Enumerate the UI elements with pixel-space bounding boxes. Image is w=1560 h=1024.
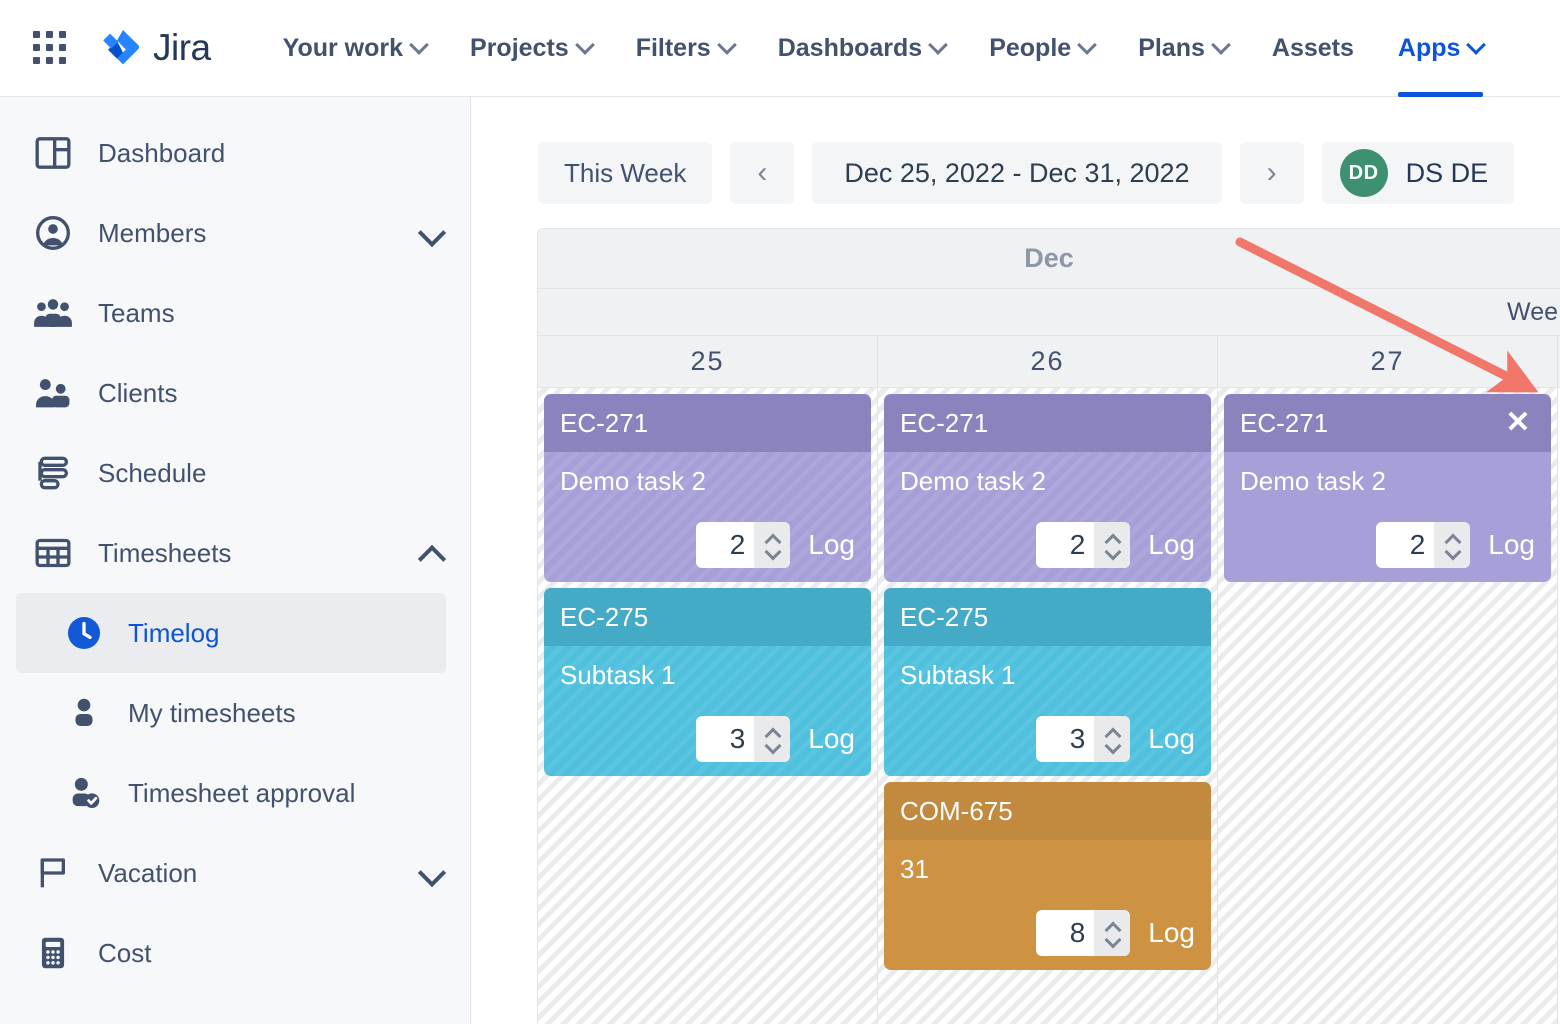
sidebar-item-label: Timelog: [128, 618, 220, 649]
hours-stepper[interactable]: 8: [1036, 910, 1130, 956]
chevron-down-icon[interactable]: [1105, 741, 1120, 750]
stepper-buttons[interactable]: [1094, 716, 1130, 762]
nav-item-people[interactable]: People: [967, 0, 1116, 97]
date-range-display[interactable]: Dec 25, 2022 - Dec 31, 2022: [812, 142, 1221, 204]
sidebar-item-vacation[interactable]: Vacation: [0, 833, 470, 913]
card-footer: 2 Log: [1036, 522, 1199, 568]
hours-stepper[interactable]: 3: [696, 716, 790, 762]
calculator-icon: [30, 930, 76, 976]
calendar-month-label: Dec: [538, 229, 1560, 289]
chevron-up-icon[interactable]: [1105, 535, 1120, 544]
nav-item-apps[interactable]: Apps: [1376, 0, 1506, 97]
people-group-icon: [30, 290, 76, 336]
card-footer: 3 Log: [696, 716, 859, 762]
hours-value[interactable]: 3: [696, 723, 754, 755]
calendar-column-27[interactable]: EC-271 ✕ Demo task 2 2 Log: [1218, 388, 1558, 1024]
stepper-buttons[interactable]: [1094, 522, 1130, 568]
chevron-down-icon[interactable]: [1445, 547, 1460, 556]
calendar-column-25[interactable]: EC-271 Demo task 2 2 Log: [538, 388, 878, 1024]
chevron-down-icon: [1080, 38, 1094, 52]
hours-stepper[interactable]: 2: [1036, 522, 1130, 568]
day-header-25: 25: [538, 336, 878, 387]
day-header-27: 27: [1218, 336, 1558, 387]
card-header: EC-275: [884, 588, 1211, 646]
sidebar-item-label: Vacation: [98, 858, 197, 889]
timelog-card[interactable]: EC-275 Subtask 1 3 Log: [884, 588, 1211, 776]
user-name: DS DE: [1406, 158, 1489, 189]
card-header: EC-271: [884, 394, 1211, 452]
card-header: EC-275: [544, 588, 871, 646]
dashboard-layout-icon: [30, 130, 76, 176]
sidebar-item-clients[interactable]: Clients: [0, 353, 470, 433]
chevron-down-icon[interactable]: [420, 221, 444, 245]
stepper-buttons[interactable]: [754, 716, 790, 762]
chevron-up-icon[interactable]: [1445, 535, 1460, 544]
chevron-down-icon[interactable]: [1105, 547, 1120, 556]
stepper-buttons[interactable]: [1094, 910, 1130, 956]
card-header: EC-271: [544, 394, 871, 452]
table-grid-icon: [30, 530, 76, 576]
hours-value[interactable]: 2: [1036, 529, 1094, 561]
chevron-up-icon[interactable]: [1105, 923, 1120, 932]
brand-name: Jira: [153, 27, 211, 69]
nav-item-your-work[interactable]: Your work: [261, 0, 448, 97]
issue-summary: Subtask 1: [884, 646, 1211, 691]
sidebar-item-label: Dashboard: [98, 138, 225, 169]
sidebar-item-dashboard[interactable]: Dashboard: [0, 113, 470, 193]
person-check-icon: [62, 771, 106, 815]
avatar: DD: [1340, 149, 1388, 197]
user-selector[interactable]: DD DS DE: [1322, 142, 1515, 204]
sidebar-item-label: Members: [98, 218, 206, 249]
issue-key: EC-275: [560, 602, 648, 633]
card-footer: 3 Log: [1036, 716, 1199, 762]
timelog-card[interactable]: EC-271 Demo task 2 2 Log: [884, 394, 1211, 582]
clock-icon: [62, 611, 106, 655]
log-button[interactable]: Log: [804, 529, 859, 561]
hours-value[interactable]: 2: [696, 529, 754, 561]
nav-label: Apps: [1398, 34, 1461, 63]
day-header-26: 26: [878, 336, 1218, 387]
chevron-down-icon[interactable]: [420, 861, 444, 885]
hours-value[interactable]: 3: [1036, 723, 1094, 755]
sidebar-item-timesheet-approval[interactable]: Timesheet approval: [16, 753, 446, 833]
sidebar-item-label: Cost: [98, 938, 151, 969]
calendar-week-label: Wee: [538, 289, 1560, 336]
issue-summary: Subtask 1: [544, 646, 871, 691]
hours-stepper[interactable]: 2: [1376, 522, 1470, 568]
person-icon: [62, 691, 106, 735]
chevron-down-icon: [412, 38, 426, 52]
sidebar-item-my-timesheets[interactable]: My timesheets: [16, 673, 446, 753]
chevron-down-icon[interactable]: [1105, 935, 1120, 944]
chevron-up-icon[interactable]: [765, 729, 780, 738]
top-nav-items: Your work Projects Filters Dashboards Pe…: [261, 0, 1506, 97]
hours-stepper[interactable]: 2: [696, 522, 790, 568]
chevron-down-icon: [720, 38, 734, 52]
chevron-down-icon[interactable]: [765, 741, 780, 750]
flag-icon: [30, 850, 76, 896]
issue-summary: Demo task 2: [544, 452, 871, 497]
sidebar-item-teams[interactable]: Teams: [0, 273, 470, 353]
jira-logo[interactable]: Jira: [98, 24, 211, 72]
card-footer: 2 Log: [696, 522, 859, 568]
nav-label: Assets: [1272, 34, 1354, 63]
sidebar-item-label: Timesheets: [98, 538, 231, 569]
issue-key: EC-271: [560, 408, 648, 439]
nav-label: Your work: [283, 34, 403, 63]
nav-item-assets[interactable]: Assets: [1250, 0, 1376, 97]
schedule-stack-icon: [30, 450, 76, 496]
timelog-card[interactable]: COM-675 31 8 Log: [884, 782, 1211, 970]
card-header: EC-271 ✕: [1224, 394, 1551, 452]
chevron-up-icon[interactable]: [1105, 729, 1120, 738]
card-footer: 2 Log: [1376, 522, 1539, 568]
next-week-button[interactable]: ›: [1240, 142, 1304, 204]
issue-key: EC-271: [900, 408, 988, 439]
issue-summary: 31: [884, 840, 1211, 885]
stepper-buttons[interactable]: [754, 522, 790, 568]
sidebar-item-timesheets[interactable]: Timesheets: [0, 513, 470, 593]
nav-label: Plans: [1138, 34, 1205, 63]
log-button[interactable]: Log: [1144, 723, 1199, 755]
sidebar-item-schedule[interactable]: Schedule: [0, 433, 470, 513]
log-button[interactable]: Log: [1484, 529, 1539, 561]
sidebar-item-label: Schedule: [98, 458, 206, 489]
sidebar-item-cost[interactable]: Cost: [0, 913, 470, 993]
top-navigation-bar: Jira Your work Projects Filters Dashboar…: [0, 0, 1560, 97]
sidebar-item-timelog[interactable]: Timelog: [16, 593, 446, 673]
calendar-day-headers: 25 26 27: [538, 336, 1560, 388]
issue-summary: Demo task 2: [884, 452, 1211, 497]
sidebar-item-label: Teams: [98, 298, 175, 329]
calendar-column-26[interactable]: EC-271 Demo task 2 2 Log: [878, 388, 1218, 1024]
issue-key: COM-675: [900, 796, 1013, 827]
nav-label: Dashboards: [778, 34, 922, 63]
sidebar: Dashboard Members: [0, 97, 471, 1024]
chevron-down-icon: [931, 38, 945, 52]
log-button[interactable]: Log: [804, 723, 859, 755]
log-button[interactable]: Log: [1144, 917, 1199, 949]
card-header: COM-675: [884, 782, 1211, 840]
grid-apps-icon[interactable]: [30, 28, 70, 68]
log-button[interactable]: Log: [1144, 529, 1199, 561]
timelog-calendar: Dec Wee 25 26 27 EC-271 Demo task 2 2: [537, 228, 1560, 1024]
chevron-down-icon: [578, 38, 592, 52]
stepper-buttons[interactable]: [1434, 522, 1470, 568]
chevron-down-icon: [1214, 38, 1228, 52]
hours-value[interactable]: 8: [1036, 917, 1094, 949]
issue-key: EC-275: [900, 602, 988, 633]
chevron-up-icon[interactable]: [765, 535, 780, 544]
timelog-card[interactable]: EC-275 Subtask 1 3 Log: [544, 588, 871, 776]
nav-label: People: [989, 34, 1071, 63]
timelog-card[interactable]: EC-271 Demo task 2 2 Log: [544, 394, 871, 582]
jira-logo-icon: [98, 24, 144, 72]
hours-stepper[interactable]: 3: [1036, 716, 1130, 762]
timelog-toolbar: This Week ‹ Dec 25, 2022 - Dec 31, 2022 …: [472, 97, 1560, 213]
nav-item-projects[interactable]: Projects: [448, 0, 614, 97]
sidebar-item-label: Timesheet approval: [128, 778, 355, 809]
timelog-card[interactable]: EC-271 ✕ Demo task 2 2 Log: [1224, 394, 1551, 582]
nav-item-dashboards[interactable]: Dashboards: [756, 0, 967, 97]
calendar-columns: EC-271 Demo task 2 2 Log: [538, 388, 1560, 1024]
issue-key: EC-271: [1240, 408, 1328, 439]
this-week-button[interactable]: This Week: [538, 142, 712, 204]
close-x-icon[interactable]: ✕: [1501, 406, 1535, 440]
user-circle-icon: [30, 210, 76, 256]
sidebar-item-label: My timesheets: [128, 698, 296, 729]
two-people-icon: [30, 370, 76, 416]
nav-item-plans[interactable]: Plans: [1116, 0, 1250, 97]
card-footer: 8 Log: [1036, 910, 1199, 956]
hours-value[interactable]: 2: [1376, 529, 1434, 561]
chevron-down-icon: [1469, 38, 1483, 52]
sidebar-item-label: Clients: [98, 378, 177, 409]
nav-label: Projects: [470, 34, 569, 63]
chevron-down-icon[interactable]: [765, 547, 780, 556]
sidebar-item-members[interactable]: Members: [0, 193, 470, 273]
previous-week-button[interactable]: ‹: [730, 142, 794, 204]
nav-label: Filters: [636, 34, 711, 63]
issue-summary: Demo task 2: [1224, 452, 1551, 497]
chevron-up-icon[interactable]: [420, 541, 444, 565]
nav-item-filters[interactable]: Filters: [614, 0, 756, 97]
